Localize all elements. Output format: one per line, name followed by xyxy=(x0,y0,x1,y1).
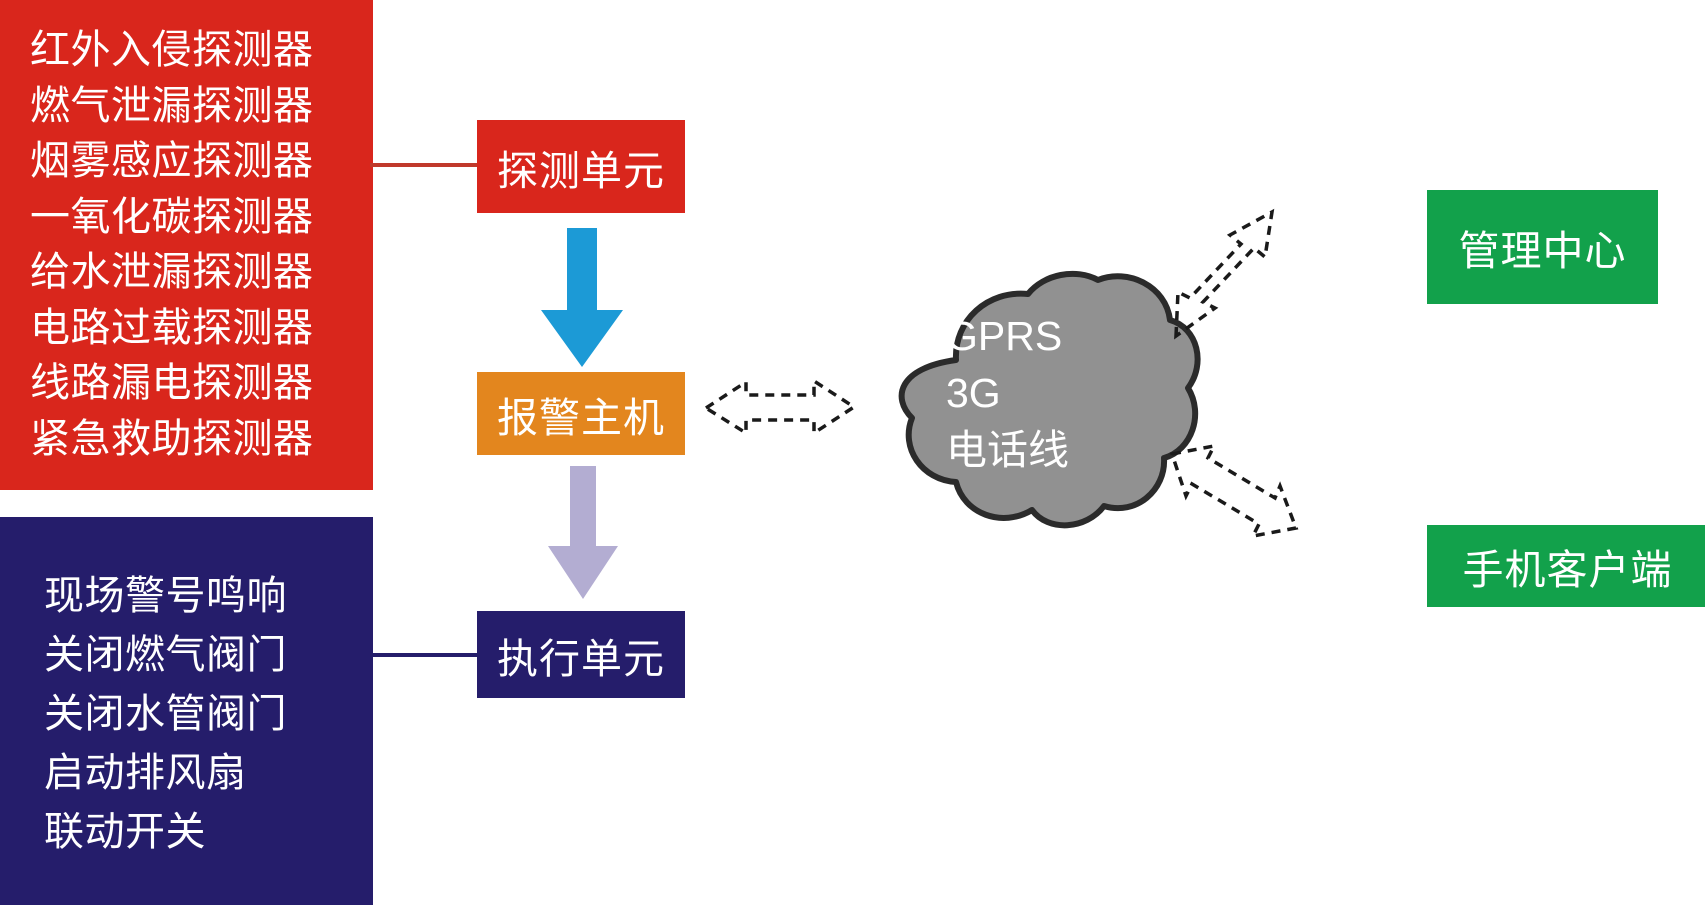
detector-item: 紧急救助探测器 xyxy=(30,412,373,468)
mobile-client-box[interactable]: 手机客户端 xyxy=(1427,525,1705,607)
alarm-host-box[interactable]: 报警主机 xyxy=(477,372,685,455)
down-arrow-icon xyxy=(539,228,625,368)
detect-unit-label: 探测单元 xyxy=(497,137,665,197)
detector-panel: 红外入侵探测器 燃气泄漏探测器 烟雾感应探测器 一氧化碳探测器 给水泄漏探测器 … xyxy=(0,0,373,490)
exec-unit-box[interactable]: 执行单元 xyxy=(477,611,685,698)
action-panel: 现场警号鸣响 关闭燃气阀门 关闭水管阀门 启动排风扇 联动开关 xyxy=(0,517,373,905)
bidirectional-dashed-arrow-icon xyxy=(1168,440,1303,560)
cloud-line-3g: 3G xyxy=(946,365,1126,422)
detector-item: 烟雾感应探测器 xyxy=(30,134,373,190)
detect-unit-box[interactable]: 探测单元 xyxy=(477,120,685,213)
action-item: 关闭燃气阀门 xyxy=(44,626,373,685)
management-center-box[interactable]: 管理中心 xyxy=(1427,190,1658,304)
action-item: 联动开关 xyxy=(44,803,373,862)
down-arrow-icon xyxy=(546,466,620,600)
exec-unit-label: 执行单元 xyxy=(497,625,665,685)
detector-item: 红外入侵探测器 xyxy=(30,23,373,79)
cloud-label-group: GPRS 3G 电话线 xyxy=(946,308,1126,479)
detector-item: 线路漏电探测器 xyxy=(30,356,373,412)
detector-item: 一氧化碳探测器 xyxy=(30,190,373,246)
detector-item: 燃气泄漏探测器 xyxy=(30,79,373,135)
cloud-line-gprs: GPRS xyxy=(946,308,1126,365)
management-center-label: 管理中心 xyxy=(1459,217,1627,277)
action-item: 启动排风扇 xyxy=(44,744,373,803)
detector-item: 给水泄漏探测器 xyxy=(30,245,373,301)
connector-action-to-exec-unit xyxy=(370,653,480,657)
action-item: 现场警号鸣响 xyxy=(44,567,373,626)
bidirectional-dashed-arrow-icon xyxy=(1168,204,1298,344)
cloud-line-phone: 电话线 xyxy=(946,422,1126,479)
alarm-host-label: 报警主机 xyxy=(497,384,665,444)
detector-item: 电路过载探测器 xyxy=(30,301,373,357)
diagram-canvas: 红外入侵探测器 燃气泄漏探测器 烟雾感应探测器 一氧化碳探测器 给水泄漏探测器 … xyxy=(0,0,1705,905)
mobile-client-label: 手机客户端 xyxy=(1463,536,1673,596)
action-item: 关闭水管阀门 xyxy=(44,685,373,744)
connector-detector-to-detect-unit xyxy=(370,163,480,167)
